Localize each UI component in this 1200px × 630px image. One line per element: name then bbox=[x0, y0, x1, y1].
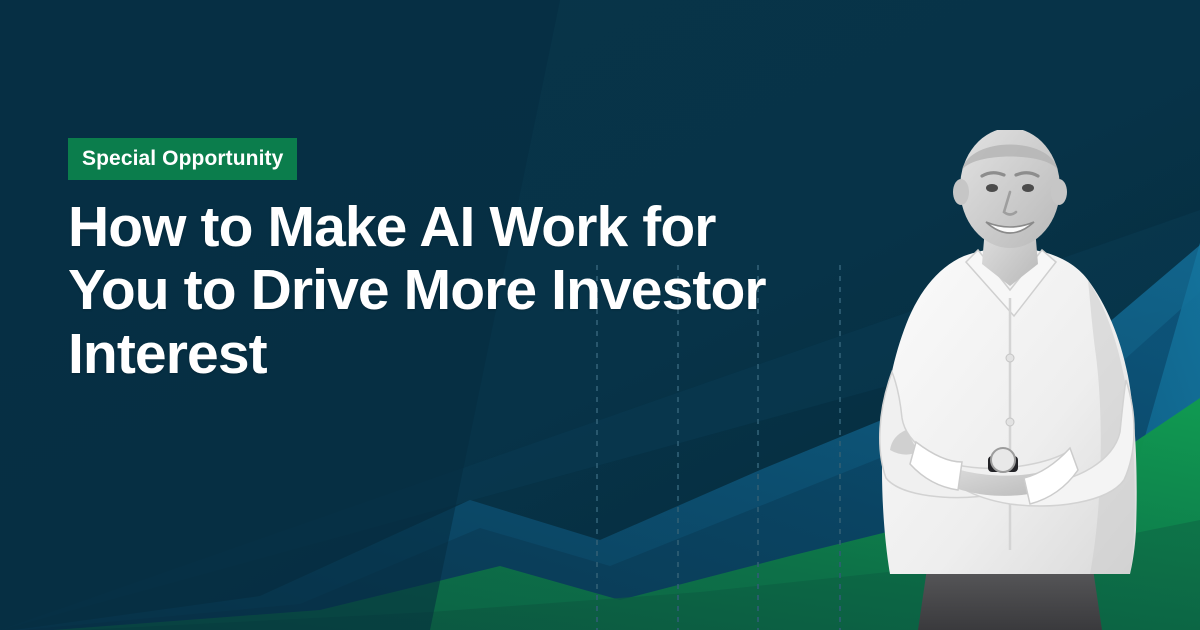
promo-banner: Special Opportunity How to Make AI Work … bbox=[0, 0, 1200, 630]
banner-content: Special Opportunity How to Make AI Work … bbox=[68, 138, 858, 386]
page-title: How to Make AI Work for You to Drive Mor… bbox=[68, 196, 828, 386]
headline-line-3: Interest bbox=[68, 322, 267, 386]
eyebrow-badge: Special Opportunity bbox=[68, 138, 297, 180]
headline-line-2: You to Drive More Investor bbox=[68, 258, 766, 322]
headline-line-1: How to Make AI Work for bbox=[68, 195, 716, 259]
